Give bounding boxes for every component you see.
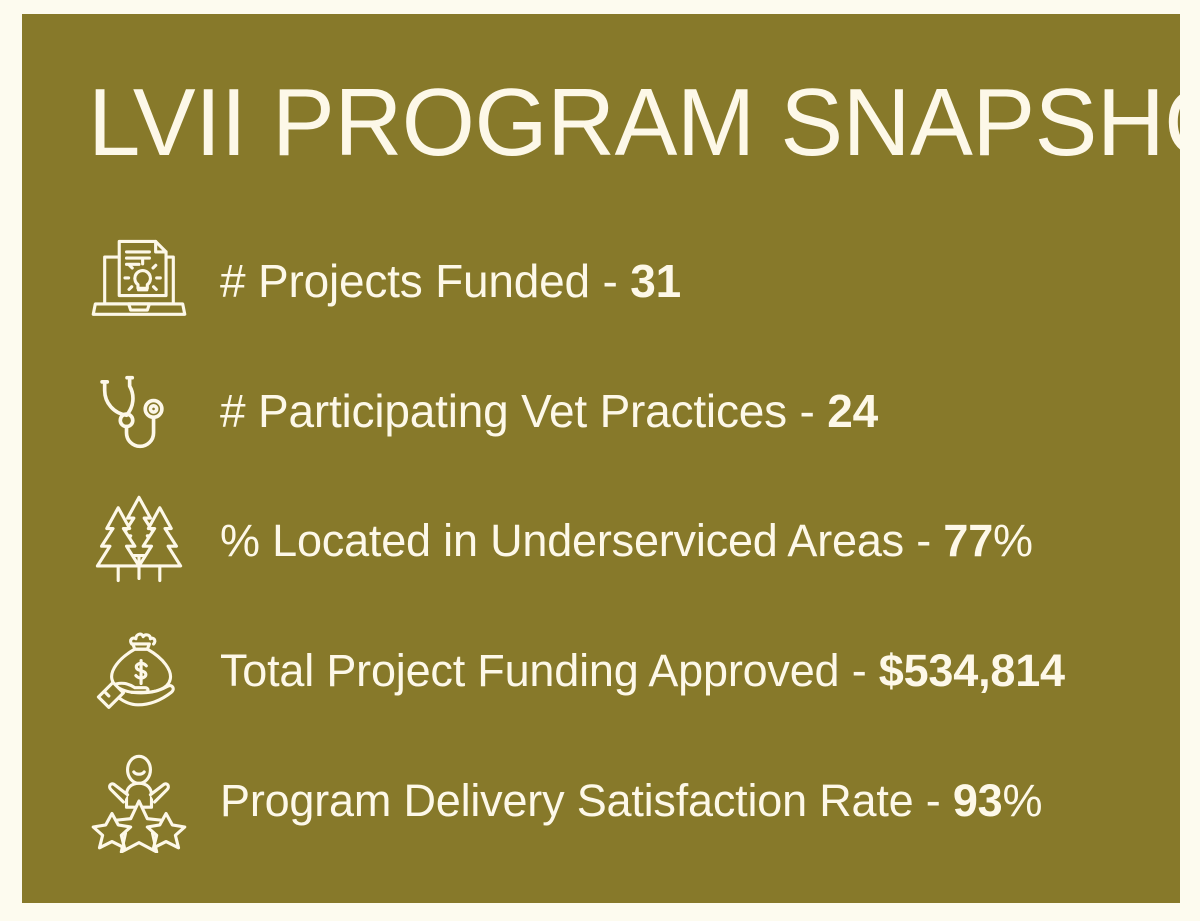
stat-label: Total Project Funding Approved - [220,645,879,696]
stat-row: # Projects Funded - 31 [22,216,1180,346]
laptop-document-lightbulb-icon [80,225,198,337]
stat-text: % Located in Underserviced Areas - 77% [220,516,1180,566]
stat-value: 31 [630,255,681,307]
stethoscope-icon [80,355,198,467]
stat-label: # Projects Funded - [220,255,630,307]
stat-text: # Participating Vet Practices - 24 [220,386,1180,437]
person-with-stars-icon [80,745,198,857]
stat-label: % Located in Underserviced Areas - [220,515,943,566]
stat-text: # Projects Funded - 31 [220,256,1180,307]
stat-text: Program Delivery Satisfaction Rate - 93% [220,776,1180,826]
slide-canvas: LVII PROGRAM SNAPSHOT [0,0,1200,921]
stat-row: Program Delivery Satisfaction Rate - 93% [22,736,1180,866]
stat-suffix: % [993,515,1033,566]
snapshot-panel: LVII PROGRAM SNAPSHOT [22,14,1180,903]
stat-value: 93 [953,775,1003,826]
stat-text: Total Project Funding Approved - $534,81… [220,646,1180,696]
stat-label: Program Delivery Satisfaction Rate - [220,775,953,826]
hand-holding-money-bag-icon [80,615,198,727]
pine-trees-icon [80,485,198,597]
stat-value: 24 [827,385,878,437]
page-title: LVII PROGRAM SNAPSHOT [88,68,1107,178]
stat-value: 77 [943,515,993,566]
stat-row: # Participating Vet Practices - 24 [22,346,1180,476]
stat-label: # Participating Vet Practices - [220,385,827,437]
stat-suffix: % [1003,775,1043,826]
stat-row: % Located in Underserviced Areas - 77% [22,476,1180,606]
stat-value: $534,814 [879,645,1065,696]
stat-row: Total Project Funding Approved - $534,81… [22,606,1180,736]
stats-list: # Projects Funded - 31 [22,216,1180,866]
